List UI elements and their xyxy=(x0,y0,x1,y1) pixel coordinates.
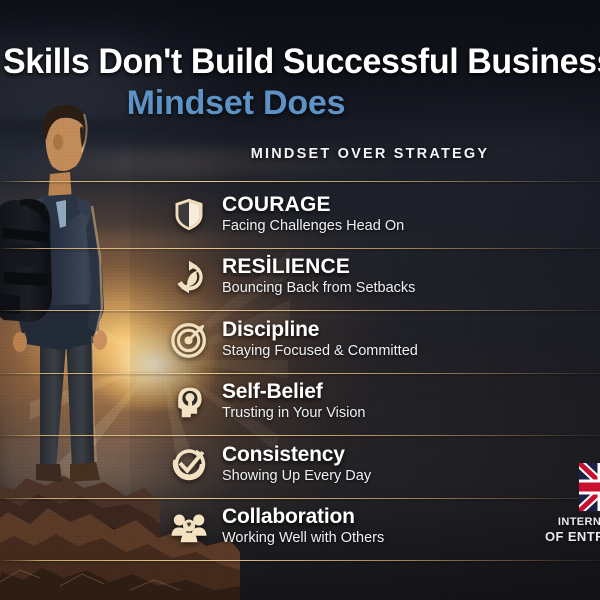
poster: Skills Don't Build Successful Business M… xyxy=(0,0,600,600)
film-grain-overlay xyxy=(0,0,600,600)
